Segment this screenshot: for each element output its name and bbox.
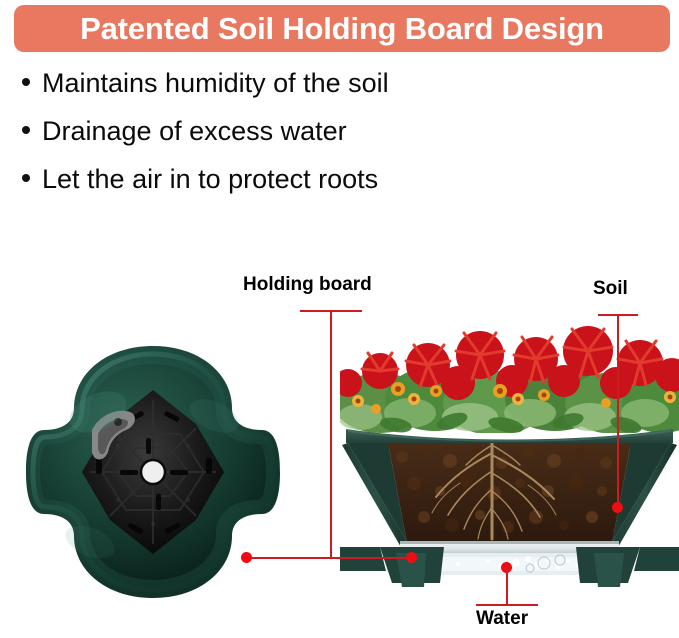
feature-text: Drainage of excess water [42, 118, 347, 145]
soil-leader-vertical [617, 314, 619, 508]
flower-bed [340, 326, 679, 436]
water-leader-vertical [506, 568, 508, 605]
feature-list: Maintains humidity of the soil Drainage … [22, 70, 522, 214]
list-item: Let the air in to protect roots [22, 166, 522, 193]
list-item: Drainage of excess water [22, 118, 522, 145]
holding-board-leader-vertical [330, 310, 332, 558]
holding-board-marker-right [406, 552, 417, 563]
callout-label-holding-board: Holding board [243, 274, 372, 296]
page-title: Patented Soil Holding Board Design [80, 13, 604, 44]
feature-text: Maintains humidity of the soil [42, 70, 389, 97]
planter-base-right [634, 547, 679, 571]
soil-marker [612, 502, 623, 513]
list-item: Maintains humidity of the soil [22, 70, 522, 97]
water-leader-bar [476, 604, 538, 606]
callout-label-soil: Soil [593, 278, 628, 300]
bullet-icon [22, 174, 30, 182]
soil-layer [380, 439, 640, 549]
header-banner: Patented Soil Holding Board Design [14, 5, 670, 52]
feature-text: Let the air in to protect roots [42, 166, 378, 193]
product-diagram: Holding board Soil Water [0, 230, 679, 638]
planter-base-left [340, 547, 386, 571]
bullet-icon [22, 126, 30, 134]
holding-board-marker-left [241, 552, 252, 563]
holding-board-leader-horizontal [246, 557, 414, 559]
bullet-icon [22, 78, 30, 86]
clover-planter-photo [18, 338, 288, 606]
cross-section-planter-photo [340, 325, 679, 587]
callout-label-water: Water [476, 608, 528, 630]
